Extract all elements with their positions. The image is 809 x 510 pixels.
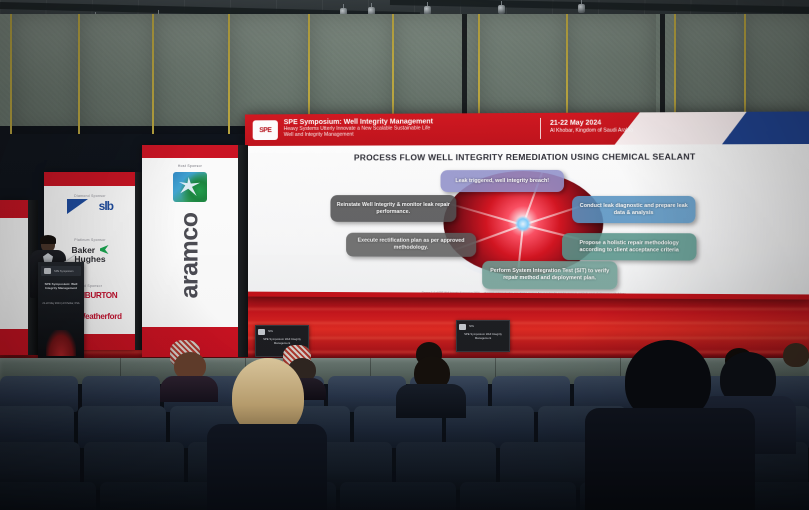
baker-hughes-mark-icon — [100, 245, 109, 254]
confidence-monitor-right: SPE SPE Symposium Well Integrity Managem… — [456, 320, 510, 352]
seat — [340, 482, 456, 510]
banner-left-partial — [0, 200, 30, 355]
slide-header-bar: SPE SPE Symposium: Well Integrity Manage… — [245, 111, 809, 146]
podium-date: 21-22 May 2024 | Al Khobar, KSA — [38, 302, 84, 305]
audience-person-foreground-left — [207, 358, 327, 510]
seat — [0, 482, 96, 510]
aramco-tier-label: Host Sponsor — [142, 164, 238, 168]
wall-panel — [10, 14, 80, 134]
audience-person-midground-center — [396, 356, 466, 412]
spe-logo-icon — [459, 324, 466, 330]
spotlight-icon — [498, 1, 505, 14]
audience-person-foreground-right — [585, 340, 755, 510]
podium-title: SPE Symposium: Well Integrity Management — [38, 282, 84, 290]
event-subtitle-2: Well and Integrity Management — [284, 131, 535, 138]
seat — [100, 482, 216, 510]
aramco-wordmark: aramco — [176, 213, 205, 299]
spe-logo-icon — [258, 329, 265, 335]
flow-box-repair-method: Propose a holistic repair methodology ac… — [562, 233, 696, 260]
flow-box-sit-test: Perform System Integration Test (SIT) to… — [482, 261, 617, 290]
podium-plate: SPE Symposium — [41, 266, 81, 276]
banner-top-band — [44, 172, 136, 186]
flow-box-execute-plan: Execute rectification plan as per approv… — [346, 233, 476, 257]
podium-rig-graphic — [46, 330, 76, 356]
aramco-mark-icon — [173, 172, 207, 202]
flow-box-leak-trigger: Leak triggered, well integrity breach! — [441, 170, 565, 192]
back-wall — [0, 14, 809, 126]
event-date-block: 21-22 May 2024 Al Khobar, Kingdom of Sau… — [550, 118, 633, 134]
slb-logo-icon: slb — [67, 198, 113, 215]
wall-panel — [78, 14, 154, 134]
banner-aramco: Host Sponsor aramco — [142, 145, 238, 357]
slide-title: PROCESS FLOW WELL INTEGRITY REMEDIATION … — [245, 151, 809, 163]
podium-plate-text: SPE Symposium — [54, 270, 73, 273]
podium-logo-icon — [44, 268, 51, 274]
slide-body: PROCESS FLOW WELL INTEGRITY REMEDIATION … — [245, 144, 809, 300]
monitor-right-logo-label: SPE — [469, 325, 474, 328]
main-led-screen: SPE SPE Symposium: Well Integrity Manage… — [245, 111, 809, 299]
podium: SPE Symposium SPE Symposium: Well Integr… — [38, 262, 84, 358]
banner-top-band — [142, 145, 238, 158]
event-title-block: SPE Symposium: Well Integrity Management… — [284, 117, 535, 138]
header-divider — [540, 118, 541, 139]
spotlight-icon — [578, 0, 585, 13]
event-location: Al Khobar, Kingdom of Saudi Arabia — [550, 128, 633, 135]
spe-logo-icon: SPE — [253, 120, 278, 140]
flow-box-reinstate: Reinstate Well Integrity & monitor leak … — [330, 195, 456, 222]
weatherford-logo: Weatherford — [78, 312, 122, 321]
seat — [460, 482, 576, 510]
flow-box-leak-diagnostic: Conduct leak diagnostic and prepare leak… — [572, 196, 695, 223]
monitor-right-body: SPE Symposium Well Integrity Management — [460, 333, 506, 340]
monitor-left-logo-label: SPE — [268, 330, 273, 333]
event-date: 21-22 May 2024 — [550, 118, 633, 127]
wall-panel — [152, 14, 230, 134]
conference-hall-photo: SPE SPE Symposium: Well Integrity Manage… — [0, 0, 809, 510]
